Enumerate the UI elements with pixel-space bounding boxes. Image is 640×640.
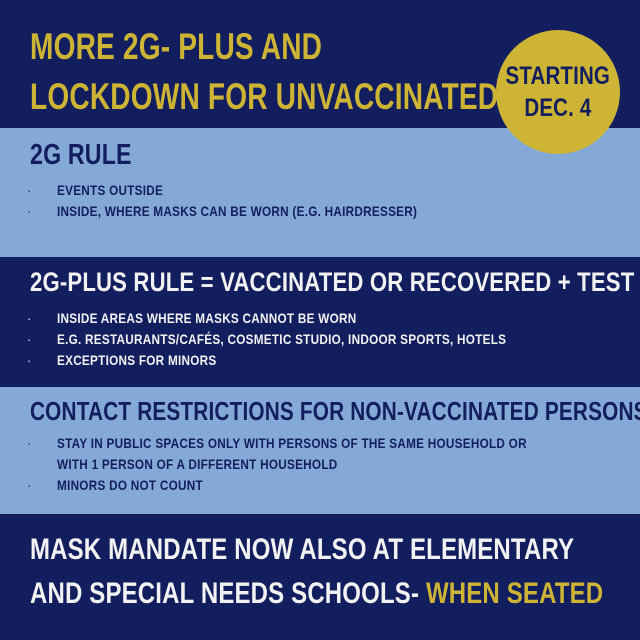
- list-item: · EVENTS OUTSIDE: [24, 180, 486, 201]
- two-g-bullet-list: · EVENTS OUTSIDE · INSIDE, WHERE MASKS C…: [24, 180, 486, 222]
- list-item: · E.G. RESTAURANTS/CAFÉS, COSMETIC STUDI…: [24, 329, 592, 350]
- two-g-plus-heading-text: 2G-PLUS RULE = VACCINATED OR RECOVERED +…: [30, 266, 634, 298]
- list-item-text: EVENTS OUTSIDE: [57, 180, 163, 201]
- two-g-plus-heading: 2G-PLUS RULE = VACCINATED OR RECOVERED +…: [30, 266, 640, 298]
- list-item-text: INSIDE, WHERE MASKS CAN BE WORN (E.G. HA…: [57, 201, 417, 222]
- bullet-marker-icon: ·: [24, 433, 57, 454]
- mask-mandate-line-1: MASK MANDATE NOW ALSO AT ELEMENTARY: [30, 528, 603, 572]
- list-item-text: STAY IN PUBLIC SPACES ONLY WITH PERSONS …: [57, 433, 527, 454]
- mask-mandate-line-2-plain: AND SPECIAL NEEDS SCHOOLS-: [30, 577, 426, 610]
- bullet-marker-icon: ·: [24, 180, 57, 201]
- two-g-plus-bullet-list: · INSIDE AREAS WHERE MASKS CANNOT BE WOR…: [24, 308, 592, 371]
- list-item: · MINORS DO NOT COUNT: [24, 475, 616, 496]
- mask-mandate-line-2: AND SPECIAL NEEDS SCHOOLS- WHEN SEATED: [30, 572, 603, 616]
- bullet-marker-icon: ·: [24, 350, 57, 371]
- badge-line-2: DEC. 4: [524, 92, 591, 124]
- contact-heading: CONTACT RESTRICTIONS FOR NON-VACCINATED …: [30, 396, 640, 427]
- bullet-marker-icon: ·: [24, 201, 57, 222]
- list-item-text: MINORS DO NOT COUNT: [57, 475, 203, 496]
- bullet-marker-icon: ·: [24, 329, 57, 350]
- infographic-poster: MORE 2G- PLUS AND LOCKDOWN FOR UNVACCINA…: [0, 0, 640, 640]
- two-g-heading-text: 2G RULE: [30, 138, 132, 172]
- contact-heading-text: CONTACT RESTRICTIONS FOR NON-VACCINATED …: [30, 396, 640, 427]
- bullet-marker-spacer: [24, 454, 57, 475]
- poster-title-line-1: MORE 2G- PLUS AND: [30, 22, 498, 72]
- badge-line-1: STARTING: [506, 60, 611, 92]
- poster-title-line-2: LOCKDOWN FOR UNVACCINATED: [30, 72, 498, 122]
- starting-date-badge: STARTING DEC. 4: [496, 30, 620, 154]
- list-item: · EXCEPTIONS FOR MINORS: [24, 350, 592, 371]
- two-g-heading: 2G RULE: [30, 138, 157, 172]
- bullet-marker-icon: ·: [24, 308, 57, 329]
- list-item-continuation: WITH 1 PERSON OF A DIFFERENT HOUSEHOLD: [24, 454, 616, 475]
- list-item-text: EXCEPTIONS FOR MINORS: [57, 350, 216, 371]
- list-item-text: INSIDE AREAS WHERE MASKS CANNOT BE WORN: [57, 308, 356, 329]
- list-item: · STAY IN PUBLIC SPACES ONLY WITH PERSON…: [24, 433, 616, 454]
- mask-mandate-accent: WHEN SEATED: [426, 577, 603, 610]
- list-item: · INSIDE AREAS WHERE MASKS CANNOT BE WOR…: [24, 308, 592, 329]
- bullet-marker-icon: ·: [24, 475, 57, 496]
- list-item: · INSIDE, WHERE MASKS CAN BE WORN (E.G. …: [24, 201, 486, 222]
- list-item-text: WITH 1 PERSON OF A DIFFERENT HOUSEHOLD: [57, 454, 338, 475]
- mask-mandate-text: MASK MANDATE NOW ALSO AT ELEMENTARY AND …: [30, 528, 640, 616]
- list-item-text: E.G. RESTAURANTS/CAFÉS, COSMETIC STUDIO,…: [57, 329, 506, 350]
- contact-bullet-list: · STAY IN PUBLIC SPACES ONLY WITH PERSON…: [24, 433, 616, 496]
